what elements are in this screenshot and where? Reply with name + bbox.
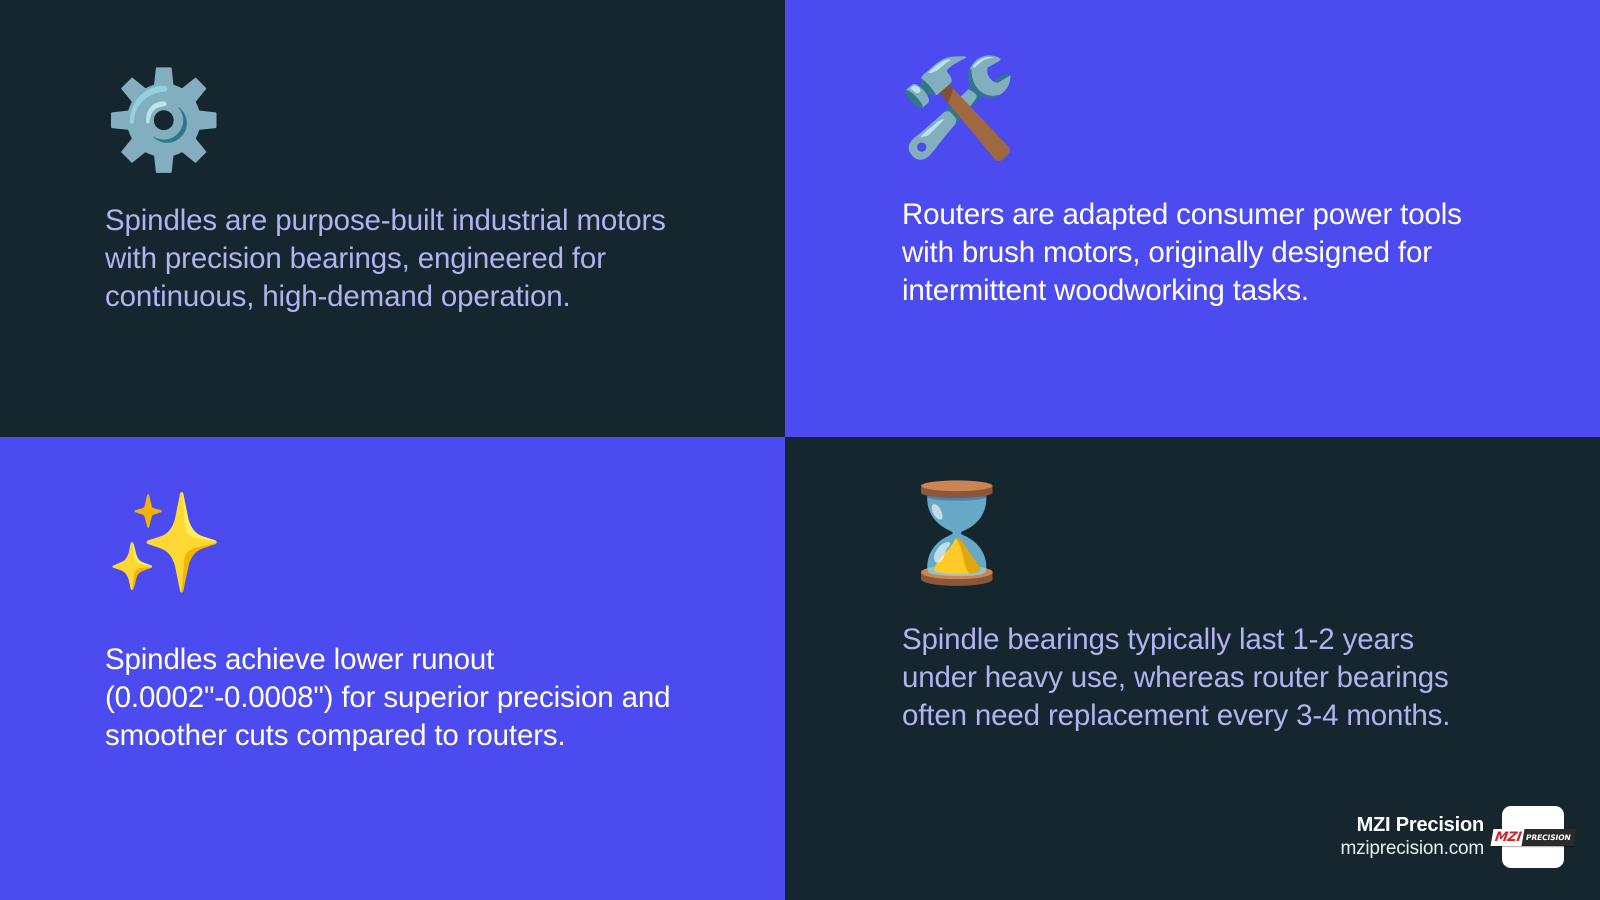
- branding: MZI Precision mziprecision.com MZIPRECIS…: [1340, 806, 1564, 868]
- panel-text-spindle-construction: Spindles are purpose-built industrial mo…: [105, 202, 705, 316]
- panel-text-router-construction: Routers are adapted consumer power tools…: [902, 196, 1462, 310]
- brand-logo: MZIPRECISION: [1502, 806, 1564, 868]
- logo-mark-secondary: PRECISION: [1521, 829, 1576, 846]
- mzi-precision-logo-icon: MZIPRECISION: [1490, 829, 1576, 846]
- panel-text-bearing-lifespan: Spindle bearings typically last 1-2 year…: [902, 621, 1472, 735]
- panel-spindle-precision: ✨ Spindles achieve lower runout (0.0002"…: [0, 437, 785, 900]
- panel-router-construction: 🛠️ Routers are adapted consumer power to…: [785, 0, 1600, 437]
- brand-name: MZI Precision: [1357, 814, 1484, 836]
- gear-icon: ⚙️: [104, 72, 785, 168]
- panel-spindle-construction: ⚙️ Spindles are purpose-built industrial…: [0, 0, 785, 437]
- infographic-canvas: ⚙️ Spindles are purpose-built industrial…: [0, 0, 1600, 900]
- panel-text-spindle-precision: Spindles achieve lower runout (0.0002"-0…: [105, 641, 685, 755]
- branding-text: MZI Precision mziprecision.com: [1340, 814, 1484, 860]
- hourglass-icon: ⌛: [897, 485, 1600, 581]
- brand-url[interactable]: mziprecision.com: [1340, 839, 1484, 860]
- hammer-and-wrench-icon: 🛠️: [898, 60, 1600, 156]
- logo-mark-primary: MZI: [1490, 829, 1524, 846]
- sparkles-icon: ✨: [105, 495, 785, 591]
